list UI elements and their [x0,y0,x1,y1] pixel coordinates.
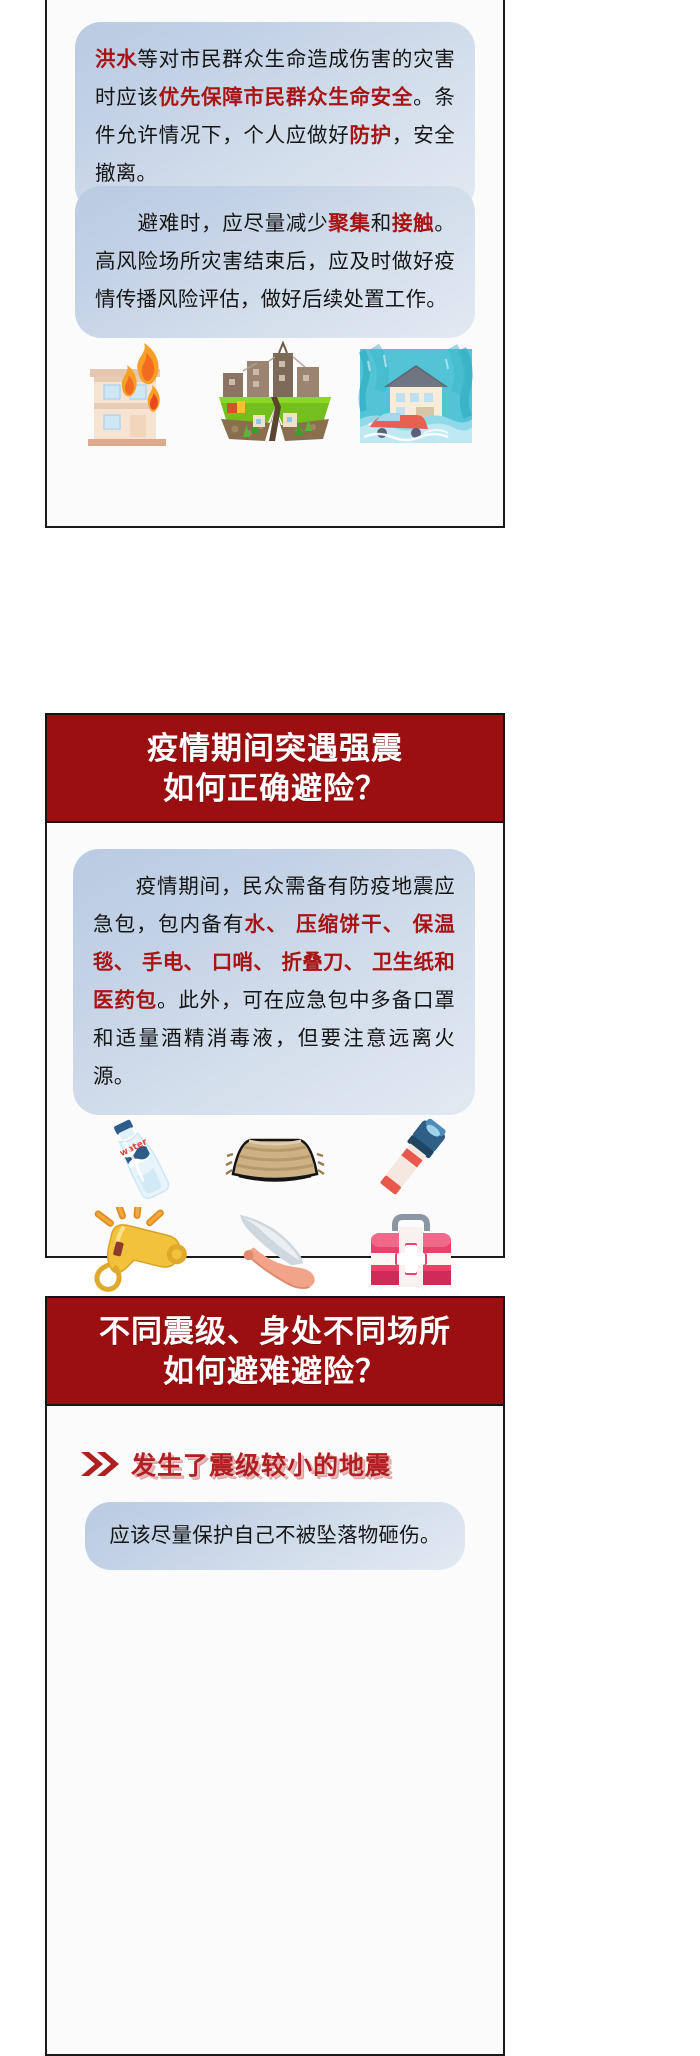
flashlight-icon [343,1113,479,1205]
bubble-text: 避难时，应尽量减少聚集和接触。高风险场所灾害结束后，应及时做好疫情传播风险评估，… [95,204,455,318]
kit-icon-grid: water [71,1113,479,1301]
bubble-emergency-kit: 疫情期间，民众需备有防疫地震应急包，包内备有水、 压缩饼干、 保温毯、 手电、 … [73,849,475,1115]
bubble-text: 疫情期间，民众需备有防疫地震应急包，包内备有水、 压缩饼干、 保温毯、 手电、 … [93,867,455,1095]
whistle-icon [71,1205,207,1301]
card-quake-kit: 疫情期间突遇强震 如何正确避险？ 疫情期间，民众需备有防疫地震应急包，包内备有水… [45,713,505,1258]
burning-building-illustration [76,341,196,454]
folding-knife-icon [207,1205,343,1301]
bubble-text: 应该尽量保护自己不被坠落物砸伤。 [103,1516,447,1554]
infographic-page: 洪水等对市民群众生命造成伤害的灾害时应该优先保障市民群众生命安全。条件允许情况下… [0,0,700,2000]
banner-line-2: 如何正确避险？ [57,769,493,809]
flooded-house-illustration [354,341,478,454]
water-bottle-icon: water [71,1113,207,1205]
card-body: 疫情期间，民众需备有防疫地震应急包，包内备有水、 压缩饼干、 保温毯、 手电、 … [45,823,505,1258]
bubble-text: 洪水等对市民群众生命造成伤害的灾害时应该优先保障市民群众生命安全。条件允许情况下… [95,40,455,192]
card-body: 发生了震级较小的地震 应该尽量保护自己不被坠落物砸伤。 [45,1406,505,2056]
banner-magnitude-guide: 不同震级、身处不同场所 如何避难避险？ [45,1296,505,1406]
first-aid-kit-icon [343,1205,479,1301]
thermal-blanket-icon [207,1113,343,1205]
card-magnitude-guide: 不同震级、身处不同场所 如何避难避险？ 发生了震级较小的地震 应该尽量保护自己不… [45,1296,505,2056]
subhead-small-quake: 发生了震级较小的地震 [73,1446,391,1482]
bubble-protect-from-falling: 应该尽量保护自己不被坠落物砸伤。 [85,1502,465,1570]
banner-quake-kit: 疫情期间突遇强震 如何正确避险？ [45,713,505,823]
bubble-avoid-gathering: 避难时，应尽量减少聚集和接触。高风险场所灾害结束后，应及时做好疫情传播风险评估，… [75,186,475,338]
double-chevron-right-icon [79,1449,121,1479]
bubble-disaster-priority: 洪水等对市民群众生命造成伤害的灾害时应该优先保障市民群众生命安全。条件允许情况下… [75,22,475,212]
card-disaster-response: 洪水等对市民群众生命造成伤害的灾害时应该优先保障市民群众生命安全。条件允许情况下… [45,0,505,528]
banner-line-1: 疫情期间突遇强震 [57,729,493,769]
earthquake-cracked-ground-illustration [213,341,337,454]
banner-line-1: 不同震级、身处不同场所 [57,1312,493,1352]
disaster-illustration-row [67,344,487,454]
subhead-label: 发生了震级较小的地震 [131,1446,391,1482]
banner-line-2: 如何避难避险？ [57,1352,493,1392]
